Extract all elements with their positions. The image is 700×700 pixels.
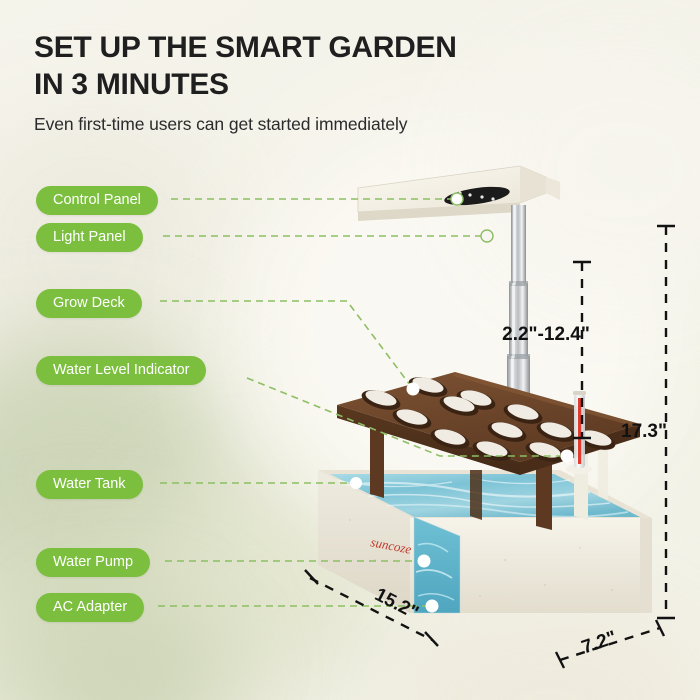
infographic-canvas: SET UP THE SMART GARDEN IN 3 MINUTES Eve… <box>0 0 700 700</box>
dimension-base-width: 7.2" <box>579 627 619 658</box>
dimension-total-height: 17.3" <box>621 421 667 442</box>
dimension-base-length: 15.2" <box>371 584 422 624</box>
dimension-pole-height: 2.2"-12.4" <box>502 324 590 345</box>
dimension-annotations: 2.2"-12.4" 17.3" 15.2" 7.2" <box>0 0 700 700</box>
